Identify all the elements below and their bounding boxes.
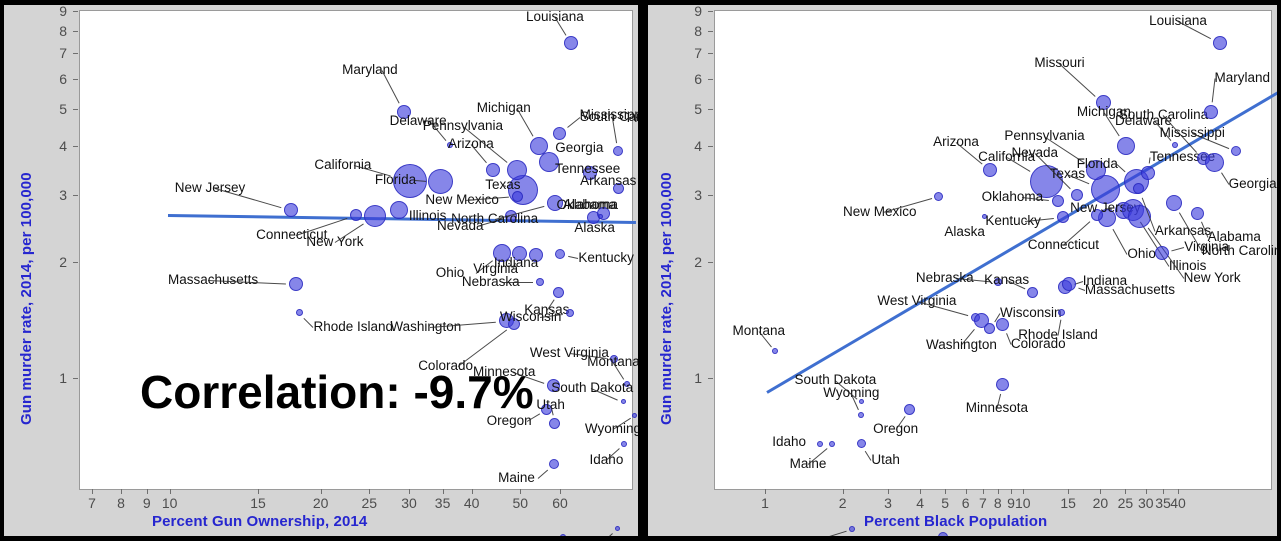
scatter-point[interactable] — [1071, 189, 1083, 201]
scatter-point[interactable] — [1172, 142, 1178, 148]
point-label: Indiana — [494, 256, 538, 270]
point-label: Florida — [375, 173, 416, 187]
scatter-point[interactable] — [549, 418, 560, 429]
scatter-point[interactable] — [1205, 153, 1224, 172]
scatter-point[interactable] — [1052, 195, 1064, 207]
x-tick-label: 8 — [117, 495, 125, 511]
y-tick-mark — [708, 53, 713, 54]
x-tick-mark — [1146, 489, 1147, 494]
point-label: Kentucky — [578, 251, 634, 265]
label-leader-line — [794, 531, 847, 536]
x-tick-label: 15 — [250, 495, 266, 511]
scatter-point[interactable] — [817, 441, 823, 447]
point-label: Georgia — [555, 141, 603, 155]
y-tick-mark — [708, 378, 713, 379]
point-label: Wyoming — [585, 422, 638, 436]
point-label: Rhode Island — [313, 320, 393, 334]
label-leader-line — [415, 180, 426, 182]
x-tick-mark — [258, 489, 259, 494]
scatter-point[interactable] — [1155, 246, 1169, 260]
scatter-point[interactable] — [904, 404, 915, 415]
x-tick-mark — [92, 489, 93, 494]
x-tick-mark — [1163, 489, 1164, 494]
scatter-point[interactable] — [829, 441, 835, 447]
scatter-point[interactable] — [621, 441, 627, 447]
x-tick-mark — [765, 489, 766, 494]
point-label: Maryland — [342, 63, 398, 77]
x-tick-label: 30 — [401, 495, 417, 511]
scatter-point[interactable] — [1204, 105, 1218, 119]
point-label: Massachusetts — [1085, 283, 1175, 297]
x-tick-mark — [945, 489, 946, 494]
scatter-point[interactable] — [555, 249, 565, 259]
y-tick-label: 3 — [59, 187, 67, 203]
point-label: New York — [1184, 271, 1241, 285]
label-leader-line — [502, 282, 533, 283]
label-leader-line — [215, 188, 282, 208]
y-tick-label: 5 — [694, 101, 702, 117]
y-tick-mark — [708, 262, 713, 263]
x-axis-title-left: Percent Gun Ownership, 2014 — [152, 513, 367, 530]
label-leader-line — [1211, 78, 1215, 102]
scatter-point[interactable] — [996, 378, 1009, 391]
y-tick-label: 7 — [59, 45, 67, 61]
scatter-point[interactable] — [507, 160, 527, 180]
y-tick-mark — [708, 146, 713, 147]
scatter-point[interactable] — [858, 412, 864, 418]
y-tick-label: 9 — [694, 5, 702, 19]
x-tick-label: 4 — [916, 495, 924, 511]
y-tick-mark — [708, 31, 713, 32]
label-leader-line — [597, 533, 614, 536]
y-tick-label: 3 — [694, 187, 702, 203]
point-label: Arkansas — [580, 174, 636, 188]
chart-panel-left: HawaiiNew JerseyMassachusettsRhode Islan… — [4, 5, 638, 536]
y-tick-mark — [708, 11, 713, 12]
scatter-point[interactable] — [512, 191, 523, 202]
point-label: Idaho — [772, 435, 806, 449]
scatter-point[interactable] — [553, 287, 564, 298]
x-tick-mark — [966, 489, 967, 494]
scatter-point[interactable] — [564, 36, 578, 50]
y-tick-mark — [73, 109, 78, 110]
scatter-point[interactable] — [996, 318, 1009, 331]
scatter-point[interactable] — [486, 163, 500, 177]
x-axis-title-right: Percent Black Population — [864, 513, 1047, 530]
point-label: Kentucky — [985, 214, 1041, 228]
scatter-point[interactable] — [1191, 207, 1204, 220]
point-label: North Carolina — [1202, 244, 1277, 258]
point-label: Oklahoma — [982, 190, 1044, 204]
x-tick-mark — [147, 489, 148, 494]
x-tick-label: 35 — [1155, 495, 1171, 511]
x-tick-label: 10 — [1015, 495, 1031, 511]
y-tick-mark — [73, 11, 78, 12]
y-tick-mark — [73, 53, 78, 54]
scatter-point[interactable] — [1231, 146, 1241, 156]
x-tick-label: 35 — [435, 495, 451, 511]
x-tick-label: 30 — [1138, 495, 1154, 511]
chart-panel-right: MontanaVermontNorth DakotaIdahoSouth Dak… — [648, 5, 1277, 536]
scatter-point[interactable] — [613, 146, 623, 156]
y-tick-label: 1 — [59, 370, 67, 386]
y-tick-label: 1 — [694, 370, 702, 386]
y-tick-mark — [73, 79, 78, 80]
scatter-point[interactable] — [1213, 36, 1227, 50]
point-label: Florida — [1077, 157, 1118, 171]
y-axis-title-left: Gun murder rate, 2014, per 100,000 — [18, 172, 35, 425]
y-tick-label: 2 — [59, 254, 67, 270]
y-tick-mark — [73, 146, 78, 147]
x-tick-mark — [170, 489, 171, 494]
x-tick-label: 10 — [162, 495, 178, 511]
x-tick-mark — [843, 489, 844, 494]
scatter-point[interactable] — [1058, 309, 1065, 316]
x-tick-mark — [920, 489, 921, 494]
scatter-point[interactable] — [621, 399, 626, 404]
scatter-point[interactable] — [983, 163, 997, 177]
y-tick-label: 9 — [59, 5, 67, 19]
label-leader-line — [568, 256, 578, 259]
scatter-point[interactable] — [428, 169, 453, 194]
correlation-annotation-left: Correlation: -9.7% — [140, 365, 534, 419]
x-tick-label: 25 — [1118, 495, 1134, 511]
scatter-point[interactable] — [1141, 166, 1155, 180]
point-label: Maine — [498, 471, 535, 485]
scatter-point[interactable] — [615, 526, 620, 531]
point-label: New Mexico — [425, 193, 499, 207]
x-tick-mark — [443, 489, 444, 494]
scatter-point[interactable] — [549, 459, 559, 469]
y-tick-label: 5 — [59, 101, 67, 117]
x-tick-label: 2 — [839, 495, 847, 511]
scatter-point[interactable] — [1027, 287, 1038, 298]
x-tick-mark — [1125, 489, 1126, 494]
point-label: Wisconsin — [1000, 306, 1062, 320]
scatter-point[interactable] — [390, 201, 408, 219]
x-tick-mark — [1023, 489, 1024, 494]
x-tick-mark — [1011, 489, 1012, 494]
x-tick-label: 3 — [884, 495, 892, 511]
x-tick-label: 6 — [962, 495, 970, 511]
point-label: Michigan — [477, 101, 531, 115]
y-tick-label: 8 — [694, 23, 702, 39]
x-tick-mark — [1178, 489, 1179, 494]
y-tick-label: 6 — [694, 71, 702, 87]
y-axis-title-right: Gun murder rate, 2014, per 100,000 — [658, 172, 675, 425]
label-leader-line — [1172, 247, 1185, 251]
y-tick-label: 7 — [694, 45, 702, 61]
point-label: Mississippi — [580, 108, 638, 122]
scatter-point[interactable] — [1117, 137, 1135, 155]
label-leader-line — [567, 117, 580, 128]
label-leader-line — [503, 185, 506, 187]
x-tick-mark — [1068, 489, 1069, 494]
x-tick-label: 15 — [1060, 495, 1076, 511]
y-tick-mark — [73, 195, 78, 196]
x-tick-label: 40 — [464, 495, 480, 511]
x-tick-mark — [998, 489, 999, 494]
x-tick-label: 60 — [552, 495, 568, 511]
point-label: California — [314, 158, 371, 172]
scatter-point[interactable] — [1128, 205, 1151, 228]
point-label: Georgia — [1229, 177, 1277, 191]
x-tick-label: 8 — [994, 495, 1002, 511]
scatter-point[interactable] — [772, 348, 778, 354]
label-leader-line — [1113, 229, 1128, 255]
x-tick-mark — [983, 489, 984, 494]
y-tick-mark — [708, 109, 713, 110]
scatter-point[interactable] — [1062, 277, 1076, 291]
x-tick-label: 20 — [1093, 495, 1109, 511]
x-tick-label: 7 — [979, 495, 987, 511]
x-tick-mark — [321, 489, 322, 494]
x-tick-mark — [369, 489, 370, 494]
y-tick-mark — [73, 262, 78, 263]
point-label: Washington — [390, 320, 461, 334]
scatter-point[interactable] — [364, 205, 386, 227]
plot-area-right: MontanaVermontNorth DakotaIdahoSouth Dak… — [714, 10, 1272, 490]
x-tick-mark — [1100, 489, 1101, 494]
point-label: Alaska — [944, 225, 985, 239]
scatter-point[interactable] — [1133, 183, 1144, 194]
x-tick-mark — [472, 489, 473, 494]
scatter-point[interactable] — [566, 309, 574, 317]
x-tick-mark — [520, 489, 521, 494]
x-tick-label: 25 — [361, 495, 377, 511]
point-label: Alaska — [574, 221, 615, 235]
x-tick-mark — [888, 489, 889, 494]
point-label: Ohio — [1127, 247, 1156, 261]
label-leader-line — [458, 330, 507, 367]
scatter-point[interactable] — [289, 277, 303, 291]
x-tick-mark — [409, 489, 410, 494]
scatter-point[interactable] — [553, 127, 566, 140]
y-tick-mark — [73, 31, 78, 32]
x-tick-label: 5 — [941, 495, 949, 511]
x-tick-label: 9 — [143, 495, 151, 511]
x-tick-label: 50 — [512, 495, 528, 511]
x-tick-mark — [121, 489, 122, 494]
y-tick-label: 6 — [59, 71, 67, 87]
point-label: Maryland — [1215, 71, 1271, 85]
label-leader-line — [538, 469, 549, 478]
scatter-point[interactable] — [598, 214, 603, 219]
scatter-point[interactable] — [284, 203, 298, 217]
scatter-point[interactable] — [296, 309, 303, 316]
scatter-point[interactable] — [934, 192, 943, 201]
y-tick-mark — [708, 79, 713, 80]
x-tick-label: 9 — [1007, 495, 1015, 511]
y-tick-label: 4 — [694, 138, 702, 154]
scatter-point[interactable] — [849, 526, 855, 532]
label-leader-line — [304, 318, 314, 328]
scatter-point[interactable] — [984, 323, 995, 334]
x-tick-label: 7 — [88, 495, 96, 511]
scatter-point[interactable] — [857, 439, 866, 448]
point-label: Ohio — [436, 266, 465, 280]
point-label: Alabama — [1208, 230, 1261, 244]
scatter-point[interactable] — [632, 413, 637, 418]
y-tick-label: 4 — [59, 138, 67, 154]
y-tick-label: 8 — [59, 23, 67, 39]
figure-root: HawaiiNew JerseyMassachusettsRhode Islan… — [0, 0, 1281, 541]
x-tick-label: 40 — [1170, 495, 1186, 511]
y-tick-mark — [708, 195, 713, 196]
point-label: Utah — [871, 453, 900, 467]
scatter-point[interactable] — [560, 534, 566, 536]
point-label: New Mexico — [843, 205, 917, 219]
point-label: Wisconsin — [500, 310, 562, 324]
y-tick-label: 2 — [694, 254, 702, 270]
x-tick-mark — [560, 489, 561, 494]
scatter-point[interactable] — [1057, 211, 1069, 223]
x-tick-label: 1 — [761, 495, 769, 511]
scatter-point[interactable] — [536, 278, 544, 286]
scatter-point[interactable] — [938, 532, 948, 536]
y-tick-mark — [73, 378, 78, 379]
scatter-point[interactable] — [1166, 195, 1182, 211]
x-tick-label: 20 — [313, 495, 329, 511]
